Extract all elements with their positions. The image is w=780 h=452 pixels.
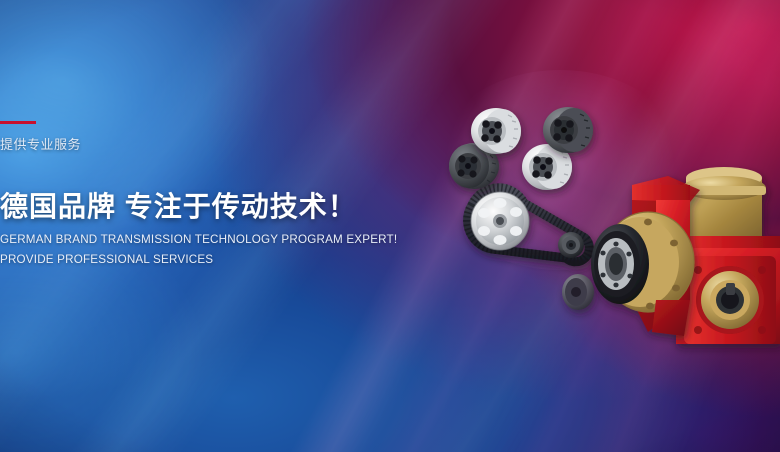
background-vignette [0, 0, 780, 452]
hero-banner: 提供专业服务 德国品牌 专注于传动技术！ GERMAN BRAND TRANSM… [0, 0, 780, 452]
